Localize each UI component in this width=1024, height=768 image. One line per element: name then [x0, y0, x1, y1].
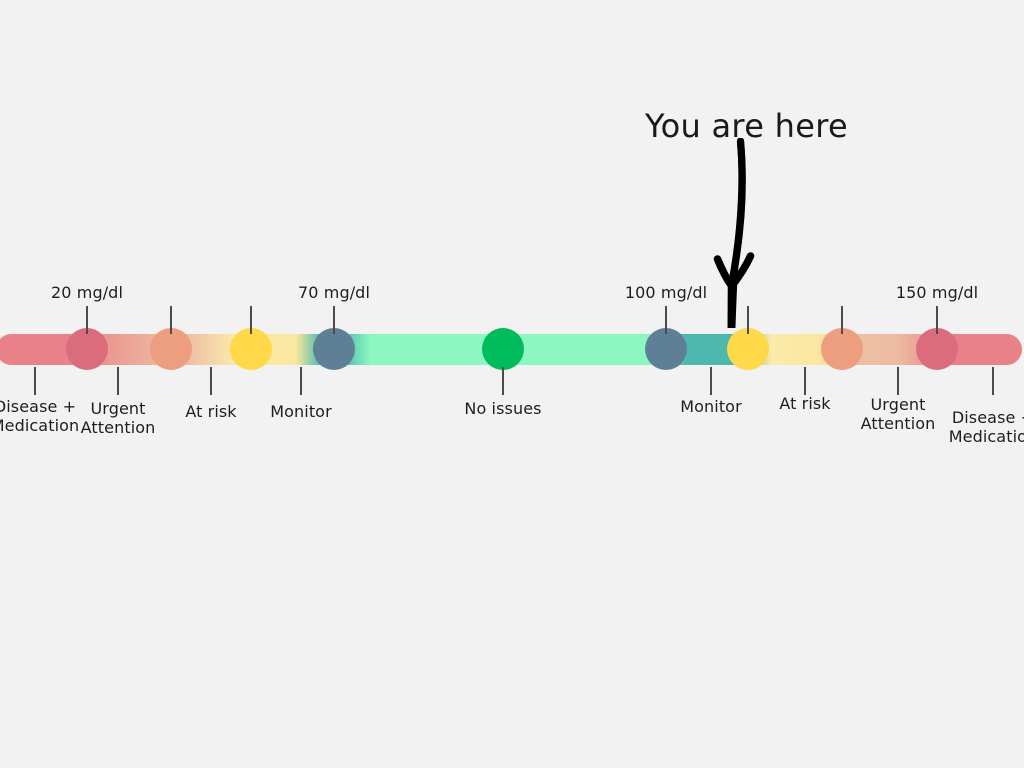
category-label-line: At risk	[779, 394, 830, 413]
marker-normal[interactable]	[482, 328, 524, 370]
value-tick-mark	[333, 306, 335, 334]
category-tick-label: UrgentAttention	[861, 395, 936, 433]
value-tick-mark	[665, 306, 667, 334]
category-tick-mark	[804, 367, 806, 395]
category-label-line: Urgent	[81, 399, 156, 418]
category-tick-mark	[992, 367, 994, 395]
you-are-here-arrow	[690, 138, 780, 328]
value-tick-label: 70 mg/dl	[298, 283, 370, 302]
category-tick-label: Monitor	[680, 397, 742, 416]
category-tick-label: UrgentAttention	[81, 399, 156, 437]
category-tick-label: At risk	[185, 402, 236, 421]
marker-critical-high[interactable]	[916, 328, 958, 370]
value-tick-mark	[841, 306, 843, 334]
marker-monitor-high[interactable]	[645, 328, 687, 370]
value-tick-mark	[250, 306, 252, 334]
category-label-line: Urgent	[861, 395, 936, 414]
category-tick-mark	[502, 367, 504, 395]
category-label-line: Attention	[861, 414, 936, 433]
marker-critical-low[interactable]	[66, 328, 108, 370]
category-tick-mark	[210, 367, 212, 395]
category-tick-label: Disease +Medication	[0, 397, 79, 435]
marker-urgent-low[interactable]	[150, 328, 192, 370]
category-label-line: Disease +	[949, 408, 1024, 427]
category-label-line: Disease +	[0, 397, 79, 416]
glucose-scale-canvas: 20 mg/dl70 mg/dl100 mg/dl150 mg/dl Disea…	[0, 0, 1024, 768]
category-tick-mark	[897, 367, 899, 395]
category-label-line: Attention	[81, 418, 156, 437]
marker-urgent-high[interactable]	[821, 328, 863, 370]
category-tick-label: Disease +Medication	[949, 408, 1024, 446]
category-tick-label: Monitor	[270, 402, 332, 421]
category-label-line: At risk	[185, 402, 236, 421]
value-tick-mark	[170, 306, 172, 334]
category-tick-mark	[34, 367, 36, 395]
category-label-line: No issues	[464, 399, 541, 418]
category-tick-mark	[117, 367, 119, 395]
value-tick-mark	[936, 306, 938, 334]
value-tick-label: 20 mg/dl	[51, 283, 123, 302]
marker-at-risk-low[interactable]	[230, 328, 272, 370]
category-tick-mark	[710, 367, 712, 395]
category-tick-label: At risk	[779, 394, 830, 413]
value-tick-label: 150 mg/dl	[896, 283, 978, 302]
category-label-line: Medication	[949, 427, 1024, 446]
category-label-line: Monitor	[680, 397, 742, 416]
category-tick-label: No issues	[464, 399, 541, 418]
value-tick-mark	[86, 306, 88, 334]
marker-at-risk-high[interactable]	[727, 328, 769, 370]
category-tick-mark	[300, 367, 302, 395]
category-label-line: Monitor	[270, 402, 332, 421]
curved-down-arrow-icon	[690, 138, 780, 328]
marker-monitor-low[interactable]	[313, 328, 355, 370]
category-label-line: Medication	[0, 416, 79, 435]
